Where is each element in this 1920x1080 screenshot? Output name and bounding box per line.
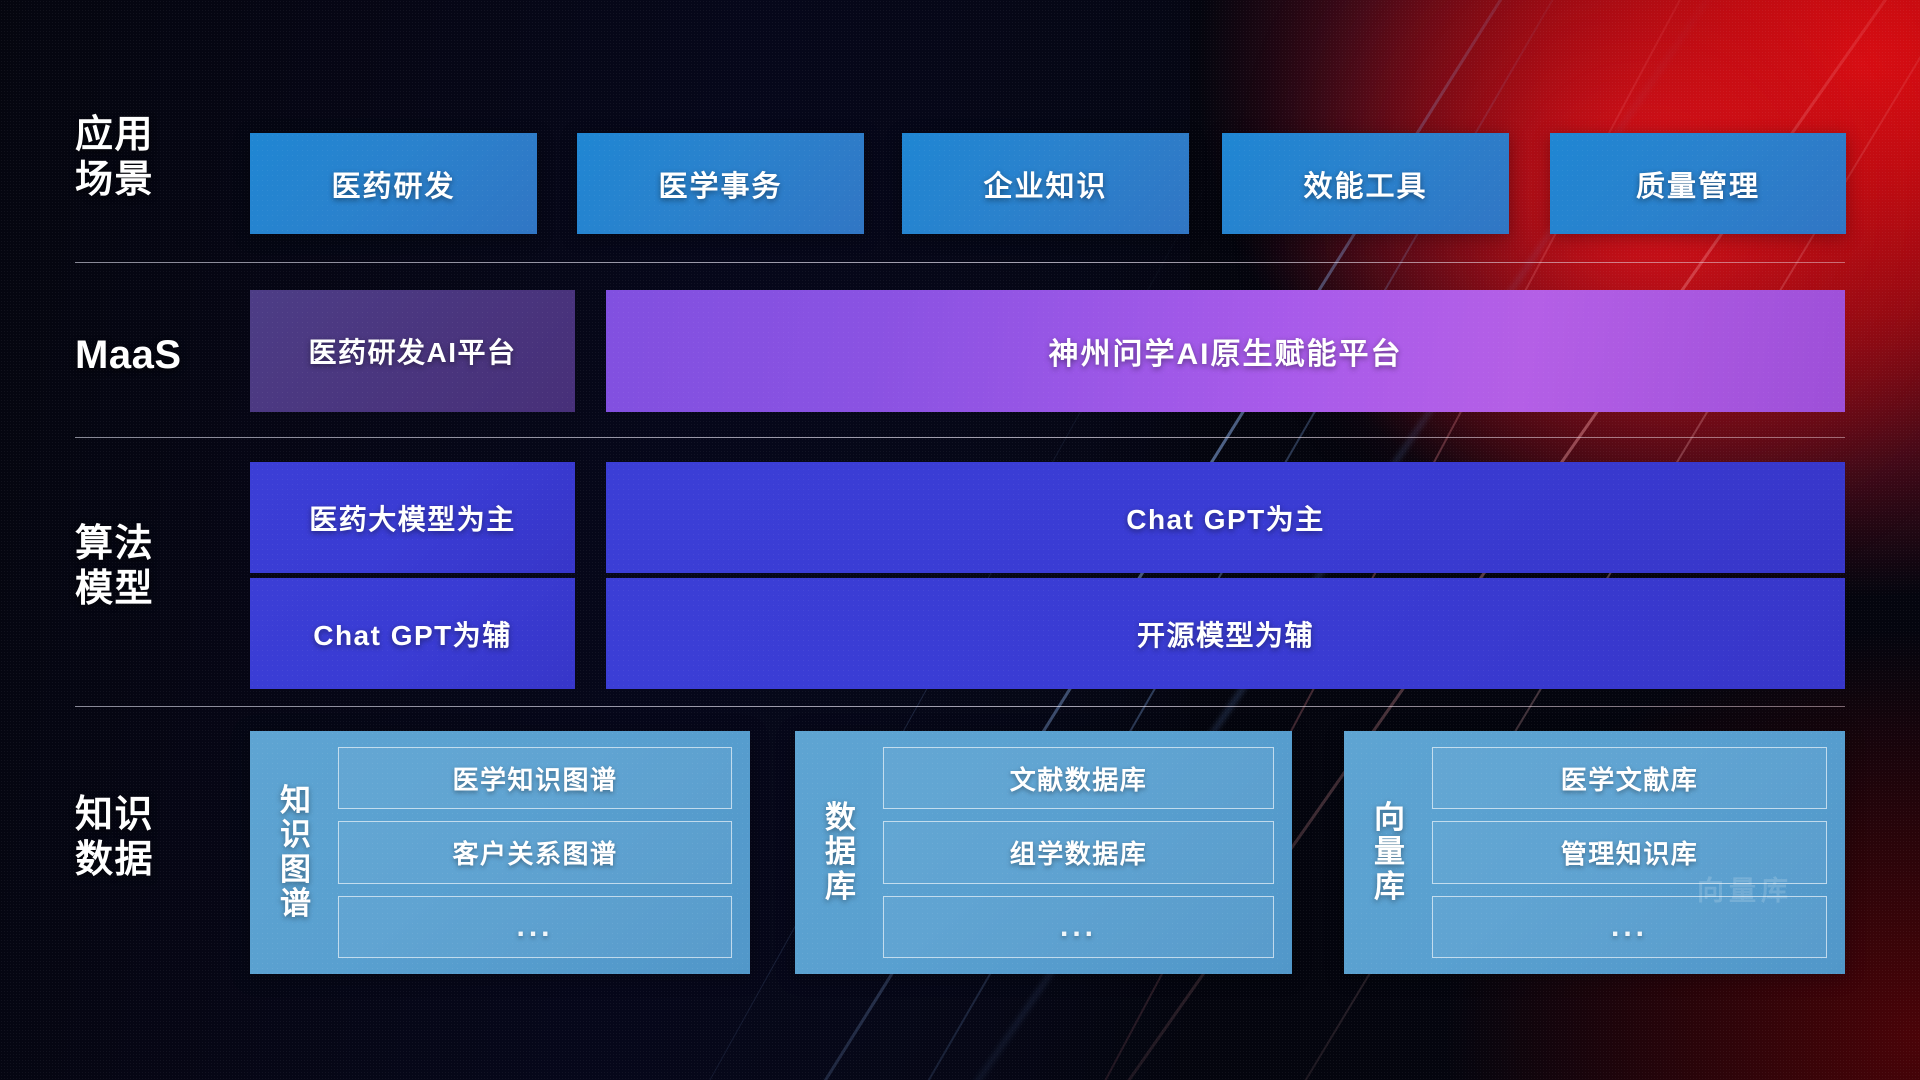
row-label-line: 知识 — [75, 793, 240, 838]
row-label-line: 场景 — [75, 158, 240, 203]
row-divider-1 — [75, 262, 1845, 263]
label-char: 据 — [825, 835, 857, 869]
knowledge-item[interactable]: 医学文献库 — [1432, 747, 1827, 809]
knowledge-item-list: 医学知识图谱 客户关系图谱 ... — [338, 747, 732, 958]
architecture-diagram: 应用 场景 医药研发 医学事务 企业知识 效能工具 质量管理 MaaS 医药研发… — [0, 0, 1920, 1080]
row-label-line: 应用 — [75, 113, 240, 158]
row-label-line: MaaS — [75, 332, 240, 379]
label-char: 数 — [825, 801, 857, 835]
algorithm-box-primary-chatgpt[interactable]: Chat GPT为主 — [606, 462, 1845, 573]
knowledge-item-label: 医学知识图谱 — [452, 760, 617, 797]
scenario-label: 医学事务 — [658, 163, 782, 205]
knowledge-item-label: ... — [1611, 910, 1648, 944]
label-char: 库 — [1374, 870, 1406, 904]
knowledge-item[interactable]: 组学数据库 — [883, 821, 1274, 883]
scenario-box-2[interactable]: 医学事务 — [577, 133, 864, 234]
algorithm-box-secondary-opensource[interactable]: 开源模型为辅 — [606, 578, 1845, 689]
algorithm-label: Chat GPT为辅 — [313, 614, 512, 654]
scenario-label: 质量管理 — [1636, 163, 1760, 205]
label-char: 识 — [280, 818, 312, 852]
scenario-box-3[interactable]: 企业知识 — [902, 133, 1189, 234]
label-char: 库 — [825, 870, 857, 904]
label-char: 图 — [280, 853, 312, 887]
knowledge-item-label: ... — [1060, 910, 1097, 944]
label-char: 知 — [280, 784, 312, 818]
row-divider-3 — [75, 706, 1845, 707]
algorithm-box-secondary-chatgpt[interactable]: Chat GPT为辅 — [250, 578, 575, 689]
maas-platform-label: 医药研发AI平台 — [308, 331, 516, 371]
scenario-box-5[interactable]: 质量管理 — [1550, 133, 1846, 234]
knowledge-panel-label: 数 据 库 — [811, 801, 871, 903]
knowledge-panel-database[interactable]: 数 据 库 文献数据库 组学数据库 ... — [795, 731, 1292, 974]
knowledge-item[interactable]: 管理知识库 — [1432, 821, 1827, 883]
knowledge-item[interactable]: 客户关系图谱 — [338, 821, 732, 883]
algorithm-label: 开源模型为辅 — [1137, 614, 1314, 654]
maas-platform-box[interactable]: 医药研发AI平台 — [250, 290, 575, 412]
algorithm-label: 医药大模型为主 — [309, 498, 516, 538]
scenario-box-4[interactable]: 效能工具 — [1222, 133, 1509, 234]
knowledge-item[interactable]: 医学知识图谱 — [338, 747, 732, 809]
label-char: 谱 — [280, 887, 312, 921]
knowledge-item-label: 医学文献库 — [1561, 760, 1699, 797]
algorithm-box-primary-pharma[interactable]: 医药大模型为主 — [250, 462, 575, 573]
knowledge-item[interactable]: 文献数据库 — [883, 747, 1274, 809]
knowledge-panel-label: 知 识 图 谱 — [266, 784, 326, 920]
row-label-line: 算法 — [75, 522, 240, 567]
knowledge-item-list: 医学文献库 管理知识库 ... — [1432, 747, 1827, 958]
row-label-line: 数据 — [75, 838, 240, 883]
knowledge-item-more[interactable]: ... — [883, 896, 1274, 958]
label-char: 量 — [1374, 835, 1406, 869]
row-label-line: 模型 — [75, 567, 240, 612]
knowledge-panel-vector-store[interactable]: 向 量 库 医学文献库 管理知识库 ... 向量库 — [1344, 731, 1845, 974]
row-label-maas: MaaS — [75, 332, 240, 379]
knowledge-panel-label: 向 量 库 — [1360, 801, 1420, 903]
scenario-label: 医药研发 — [331, 163, 455, 205]
scenario-label: 效能工具 — [1303, 163, 1427, 205]
knowledge-item-label: ... — [516, 910, 553, 944]
label-char: 向 — [1374, 801, 1406, 835]
knowledge-item-label: 组学数据库 — [1010, 834, 1148, 871]
row-divider-2 — [75, 437, 1845, 438]
maas-enablement-platform-label: 神州问学AI原生赋能平台 — [1049, 329, 1403, 373]
row-label-algorithm-models: 算法 模型 — [75, 522, 240, 612]
knowledge-item-label: 文献数据库 — [1010, 760, 1148, 797]
knowledge-item-label: 管理知识库 — [1561, 834, 1699, 871]
row-label-knowledge-data: 知识 数据 — [75, 793, 240, 883]
row-label-application-scenarios: 应用 场景 — [75, 113, 240, 203]
knowledge-item-label: 客户关系图谱 — [452, 834, 617, 871]
knowledge-item-list: 文献数据库 组学数据库 ... — [883, 747, 1274, 958]
maas-enablement-platform-box[interactable]: 神州问学AI原生赋能平台 — [606, 290, 1845, 412]
algorithm-label: Chat GPT为主 — [1126, 498, 1325, 538]
knowledge-panel-knowledge-graph[interactable]: 知 识 图 谱 医学知识图谱 客户关系图谱 ... — [250, 731, 750, 974]
scenario-label: 企业知识 — [983, 163, 1107, 205]
knowledge-item-more[interactable]: ... — [338, 896, 732, 958]
scenario-box-1[interactable]: 医药研发 — [250, 133, 537, 234]
knowledge-item-more[interactable]: ... — [1432, 896, 1827, 958]
